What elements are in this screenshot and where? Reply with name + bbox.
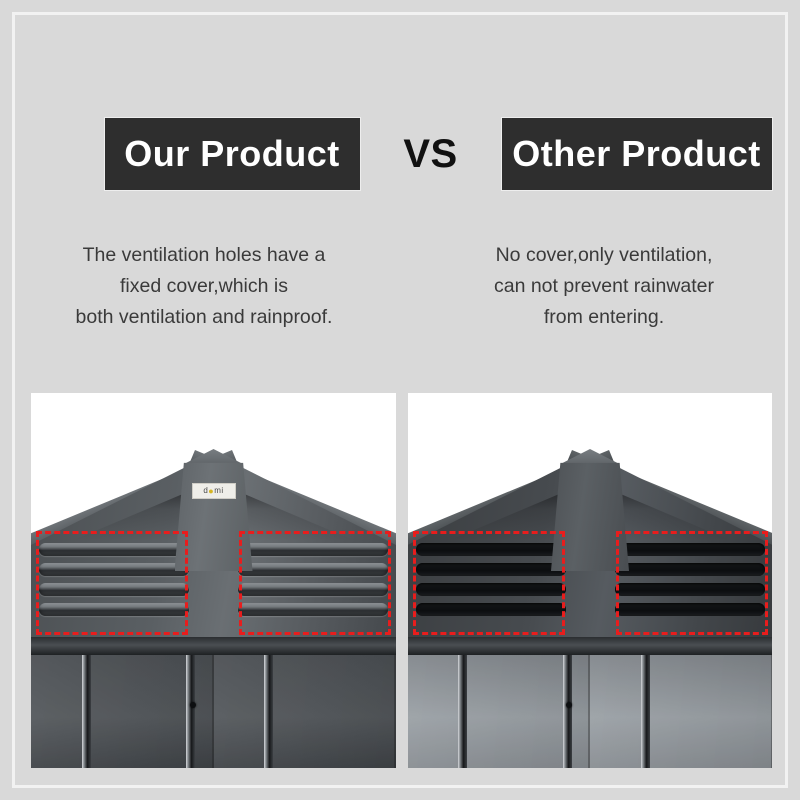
our-product-description: The ventilation holes have a fixed cover… (0, 240, 402, 350)
brand-badge-text-end: mi (214, 487, 223, 495)
other-product-shed-illustration (408, 393, 773, 768)
brand-badge: d●mi (192, 483, 236, 499)
shed-body (31, 655, 396, 768)
versus-label: VS (360, 132, 502, 177)
description-row: The ventilation holes have a fixed cover… (0, 240, 800, 350)
vent-slat (238, 543, 388, 556)
vent-slot (416, 583, 566, 596)
other-product-description-line-3: from entering. (448, 302, 760, 333)
other-product-description-line-1: No cover,only ventilation, (448, 240, 760, 271)
door-seam (563, 655, 572, 768)
trim-rail (31, 637, 396, 655)
door-seam (458, 655, 467, 768)
vent-slat (238, 603, 388, 616)
ridge-cap (551, 456, 629, 571)
vent-slot (615, 543, 765, 556)
comparison-stage: Our Product VS Other Product The ventila… (0, 0, 800, 800)
vent-slot (416, 563, 566, 576)
vent-slot (416, 603, 566, 616)
door-seam (82, 655, 91, 768)
vent-slot (416, 543, 566, 556)
shed-body (408, 655, 773, 768)
door-seam (186, 655, 195, 768)
header-row: Our Product VS Other Product (0, 113, 800, 195)
other-product-banner: Other Product (502, 118, 772, 190)
vent-slat (39, 543, 189, 556)
vent-slat (39, 583, 189, 596)
door-seam (641, 655, 650, 768)
our-product-description-line-1: The ventilation holes have a (48, 240, 360, 271)
vent-slot (615, 603, 765, 616)
vent-panel-left (416, 543, 566, 616)
door-panel (408, 655, 591, 768)
door-panel (214, 655, 396, 768)
vent-slat (39, 603, 189, 616)
our-product-description-line-3: both ventilation and rainproof. (48, 302, 360, 333)
photo-row: d●mi (31, 393, 772, 768)
other-product-description-line-2: can not prevent rainwater (448, 271, 760, 302)
door-seam (264, 655, 273, 768)
vent-slot (615, 563, 765, 576)
door-panel (590, 655, 772, 768)
vent-panel-left (39, 543, 189, 616)
vent-panel-right (238, 543, 388, 616)
vent-slot (615, 583, 765, 596)
other-product-description: No cover,only ventilation, can not preve… (402, 240, 800, 350)
vent-slat (238, 563, 388, 576)
our-product-banner: Our Product (105, 118, 360, 190)
door-panel (31, 655, 214, 768)
our-product-photo: d●mi (31, 393, 396, 768)
vent-slat (238, 583, 388, 596)
vent-slat (39, 563, 189, 576)
vent-panel-right (615, 543, 765, 616)
other-product-photo (408, 393, 773, 768)
trim-rail (408, 637, 773, 655)
our-product-description-line-2: fixed cover,which is (48, 271, 360, 302)
ridge-cap (175, 456, 253, 571)
our-product-shed-illustration: d●mi (31, 393, 396, 768)
